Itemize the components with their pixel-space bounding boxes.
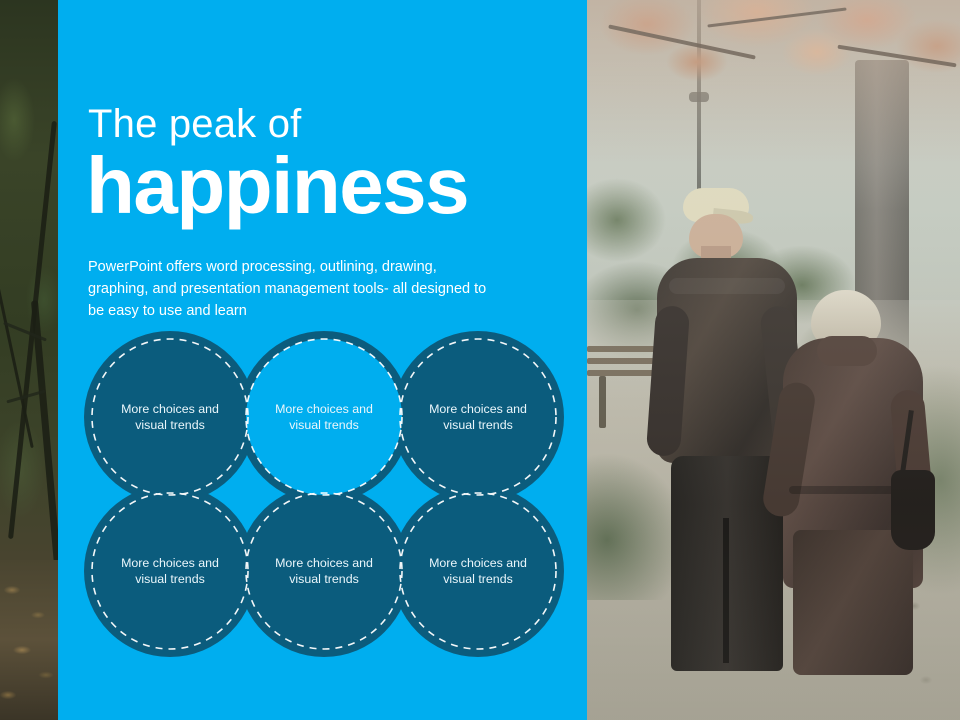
forest-strip-photo bbox=[0, 0, 58, 720]
trouser-seam bbox=[723, 518, 729, 663]
node-6-label-line2: visual trends bbox=[443, 572, 513, 586]
elderly-woman-figure bbox=[783, 290, 923, 690]
coat-skirt bbox=[793, 530, 913, 675]
eyebrow-heading: The peak of bbox=[88, 104, 301, 144]
tree-trunk bbox=[31, 300, 58, 599]
node-2-label-line1: More choices and bbox=[275, 402, 373, 416]
jacket-highlight bbox=[669, 278, 785, 294]
node-1-label-line1: More choices and bbox=[121, 402, 219, 416]
handbag bbox=[891, 470, 935, 550]
node-5-label-line2: visual trends bbox=[289, 572, 359, 586]
node-4-label-line2: visual trends bbox=[135, 572, 205, 586]
coat-collar bbox=[817, 336, 877, 366]
node-1-label-line2: visual trends bbox=[135, 418, 205, 432]
body-paragraph: PowerPoint offers word processing, outli… bbox=[88, 256, 488, 322]
node-3-label-line2: visual trends bbox=[443, 418, 513, 432]
content-panel: The peak of happiness PowerPoint offers … bbox=[58, 0, 587, 720]
page-title: happiness bbox=[86, 144, 468, 228]
elderly-couple-photo bbox=[587, 0, 960, 720]
circles-diagram: More choices and visual trends More choi… bbox=[84, 331, 564, 657]
slide-canvas: The peak of happiness PowerPoint offers … bbox=[0, 0, 960, 720]
fallen-leaves bbox=[0, 560, 58, 720]
node-4-label-line1: More choices and bbox=[121, 556, 219, 570]
node-5-label-line1: More choices and bbox=[275, 556, 373, 570]
node-2-label-line2: visual trends bbox=[289, 418, 359, 432]
node-6-label-line1: More choices and bbox=[429, 556, 527, 570]
node-3-label-line1: More choices and bbox=[429, 402, 527, 416]
